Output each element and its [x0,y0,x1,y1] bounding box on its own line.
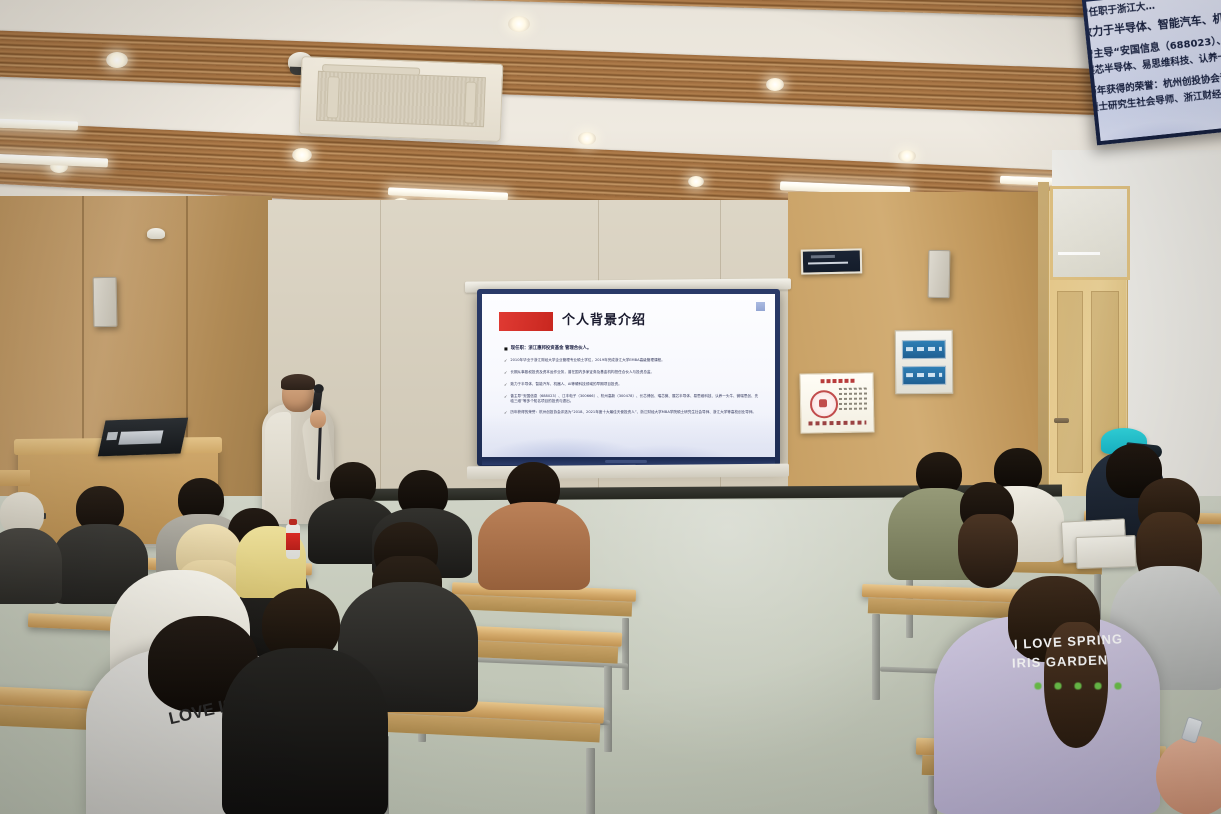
secondary-monitor-screen: 曾任职于浙江大… 致力于半导体、智能汽车、机器人、A 曾主导“安国信息（6880… [1086,0,1221,141]
downlight-icon [766,78,784,91]
ac-grille [316,71,486,127]
bullet-marker: ✓ [504,370,507,376]
downlight-icon [898,150,916,162]
wall-seam [380,200,381,500]
slide-bullet: ✓ 2010年毕业于浙江财经大学企业管理专业硕士学位，2019年完成浙江大学EM… [504,358,761,364]
classroom-photo-scene: 个人背景介绍 ■ 现任职：浙江惠邦投资基金 管理合伙人。 ✓ 2010年毕业于浙… [0,0,1221,814]
bullet-text: 2010年毕业于浙江财经大学企业管理专业硕士学位，2019年完成浙江大学EMBA… [510,358,664,363]
interactive-whiteboard[interactable]: 个人背景介绍 ■ 现任职：浙江惠邦投资基金 管理合伙人。 ✓ 2010年毕业于浙… [477,289,780,466]
slide-logo-mark [756,302,765,311]
desk-leg [622,618,629,690]
ceiling-camera-icon [147,228,165,239]
bottle-cap [289,519,297,525]
bottle-label [286,533,300,550]
bullet-marker: ✓ [504,394,507,400]
desk-leg [586,748,595,814]
certificate-footer [808,420,866,425]
bullet-marker: ✓ [504,358,507,364]
slide-bullet: ✓ 致力于半导体、智能汽车、机器人、AI等硬科技领域的早期项目投资。 [504,382,761,388]
framed-certificate [799,372,874,433]
slide-bullet: ■ 现任职：浙江惠邦投资基金 管理合伙人。 [504,346,761,352]
laptop[interactable] [1075,535,1136,569]
student-torso-brown-coat [478,502,590,590]
downlight-icon [508,16,530,32]
desk-leg [604,666,612,752]
side-counter-edge [0,470,30,486]
presenter-hair [281,374,315,390]
slide-bullet: ✓ 长期从事股权投资及资本运作业务，曾在国内多家证券及基金机构担任合伙人与投资总… [504,370,761,376]
breaker-row[interactable] [902,366,946,385]
beverage-bottle[interactable] [286,524,300,559]
ceiling-wood-slat-band [0,29,1221,122]
student-torso-black [222,648,388,814]
secondary-monitor[interactable]: 曾任职于浙江大… 致力于半导体、智能汽车、机器人、A 曾主导“安国信息（6880… [1082,0,1221,145]
door-transom-window [1050,186,1130,280]
student-hair [958,514,1018,588]
ac-vent [464,81,477,123]
certificate-heading [821,379,855,384]
ceiling-wood-slat-band [0,0,1221,23]
air-conditioner-unit [299,56,504,142]
lectern-control-monitor[interactable] [98,418,188,457]
bullet-marker: ✓ [504,382,507,388]
bullet-text: 曾主导“安国信息（688023）、江丰电子（300666）、杭州高新（30047… [510,394,761,404]
slide-title: 个人背景介绍 [562,309,646,328]
presenter-hand [310,410,326,428]
door-handle[interactable] [1054,418,1069,423]
red-seal-icon [810,390,838,418]
slide-background-graphic [482,415,775,457]
slide-screen[interactable]: 个人背景介绍 ■ 现任职：浙江惠邦投资基金 管理合伙人。 ✓ 2010年毕业于浙… [482,294,775,457]
bullet-text: 长期从事股权投资及资本运作业务，曾在国内多家证券及基金机构担任合伙人与投资总监。 [510,370,654,375]
wall-speaker-left [93,277,118,327]
ac-vent [326,76,340,118]
transom-reflection [1058,252,1100,255]
bullet-text: 致力于半导体、智能汽车、机器人、AI等硬科技领域的早期项目投资。 [510,382,621,387]
student-torso [0,528,62,604]
door-panel [1057,291,1083,473]
slide-accent-bar [499,312,553,331]
downlight-icon [688,176,704,187]
downlight-icon [106,52,128,68]
slide-bullet-list: ■ 现任职：浙江惠邦投资基金 管理合伙人。 ✓ 2010年毕业于浙江财经大学企业… [504,346,761,422]
dark-sign-panel [801,248,863,274]
board-bezel: 个人背景介绍 ■ 现任职：浙江惠邦投资基金 管理合伙人。 ✓ 2010年毕业于浙… [477,289,780,466]
bullet-marker: ■ [504,346,508,352]
certificate-text-lines [839,387,868,413]
presenter-jacket [265,412,291,520]
breaker-row[interactable] [902,340,946,359]
wall-speaker-right [928,250,951,298]
bullet-text: 现任职：浙江惠邦投资基金 管理合伙人。 [511,346,592,352]
electrical-panel[interactable] [895,330,954,395]
slide-bullet: ✓ 曾主导“安国信息（688023）、江丰电子（300666）、杭州高新（300… [504,394,761,404]
downlight-icon [578,132,596,145]
downlight-icon [292,148,312,162]
hoodie-flower-graphic [1030,678,1146,694]
desk-leg [872,614,880,700]
